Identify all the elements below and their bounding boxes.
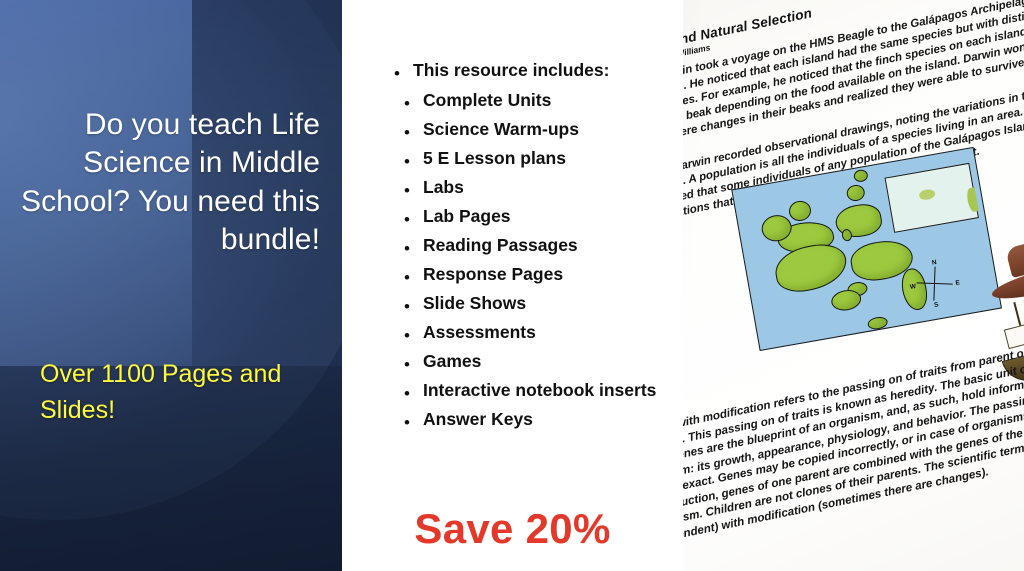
map-inset-box — [885, 163, 979, 233]
compass-label-n: N — [931, 259, 937, 267]
list-item: • Lab Pages — [342, 206, 683, 228]
list-item: • Labs — [342, 177, 683, 199]
promo-subline: Over 1100 Pages and Slides! — [40, 357, 312, 428]
list-item-label: Response Pages — [423, 264, 563, 285]
list-item-label: Answer Keys — [423, 409, 533, 430]
list-item-label: Complete Units — [423, 90, 551, 111]
bullet-icon: • — [404, 264, 423, 286]
discount-badge: Save 20% — [342, 505, 683, 553]
list-item: • Response Pages — [342, 264, 683, 286]
compass-label-w: W — [909, 283, 916, 291]
bullet-icon: • — [404, 177, 423, 199]
list-item-label: Assessments — [423, 322, 536, 343]
list-item-label: Interactive notebook inserts — [423, 380, 656, 401]
compass-label-s: S — [934, 301, 939, 309]
bullet-icon: • — [404, 206, 423, 228]
list-item-label: Science Warm-ups — [423, 119, 579, 140]
list-item-label: 5 E Lesson plans — [423, 148, 566, 169]
list-item: • Assessments — [342, 322, 683, 344]
bullet-icon: • — [394, 60, 413, 82]
promo-headline: Do you teach Life Science in Middle Scho… — [14, 106, 320, 260]
list-item: • Science Warm-ups — [342, 119, 683, 141]
bullet-icon: • — [404, 351, 423, 373]
bullet-icon: • — [404, 293, 423, 315]
list-item-label: Reading Passages — [423, 235, 578, 256]
list-item-label: Labs — [423, 177, 464, 198]
list-item-label: Slide Shows — [423, 293, 526, 314]
bullet-icon: • — [404, 148, 423, 170]
bullet-icon: • — [404, 380, 423, 402]
list-item: • Interactive notebook inserts — [342, 380, 683, 402]
features-list: • This resource includes: • Complete Uni… — [342, 60, 683, 438]
bullet-icon: • — [404, 90, 423, 112]
decorative-arc-shape — [0, 0, 342, 520]
list-item-label: Lab Pages — [423, 206, 511, 227]
slide-canvas: Do you teach Life Science in Middle Scho… — [0, 0, 1024, 571]
list-item: • Complete Units — [342, 90, 683, 112]
compass-label-e: E — [955, 279, 960, 287]
list-item-label: Games — [423, 351, 481, 372]
list-item: • Reading Passages — [342, 235, 683, 257]
list-item-intro: • This resource includes: — [342, 60, 683, 82]
bullet-icon: • — [404, 322, 423, 344]
bullet-icon: • — [404, 119, 423, 141]
bullet-icon: • — [404, 235, 423, 257]
features-panel: • This resource includes: • Complete Uni… — [342, 0, 683, 571]
list-item: • Games — [342, 351, 683, 373]
worksheet-page: Darwin and Natural Selection By Lynda R.… — [683, 0, 1024, 571]
list-item: • Slide Shows — [342, 293, 683, 315]
compass-rose-icon: N E S W — [910, 259, 959, 308]
list-item-label: This resource includes: — [413, 60, 609, 81]
list-item: • Answer Keys — [342, 409, 683, 431]
promo-panel: Do you teach Life Science in Middle Scho… — [0, 0, 342, 571]
worksheet-paragraph-lower: Descent with modification refers to the … — [683, 324, 1024, 548]
bullet-icon: • — [404, 409, 423, 431]
list-item: • 5 E Lesson plans — [342, 148, 683, 170]
worksheet-photo-panel: Darwin and Natural Selection By Lynda R.… — [683, 0, 1024, 571]
